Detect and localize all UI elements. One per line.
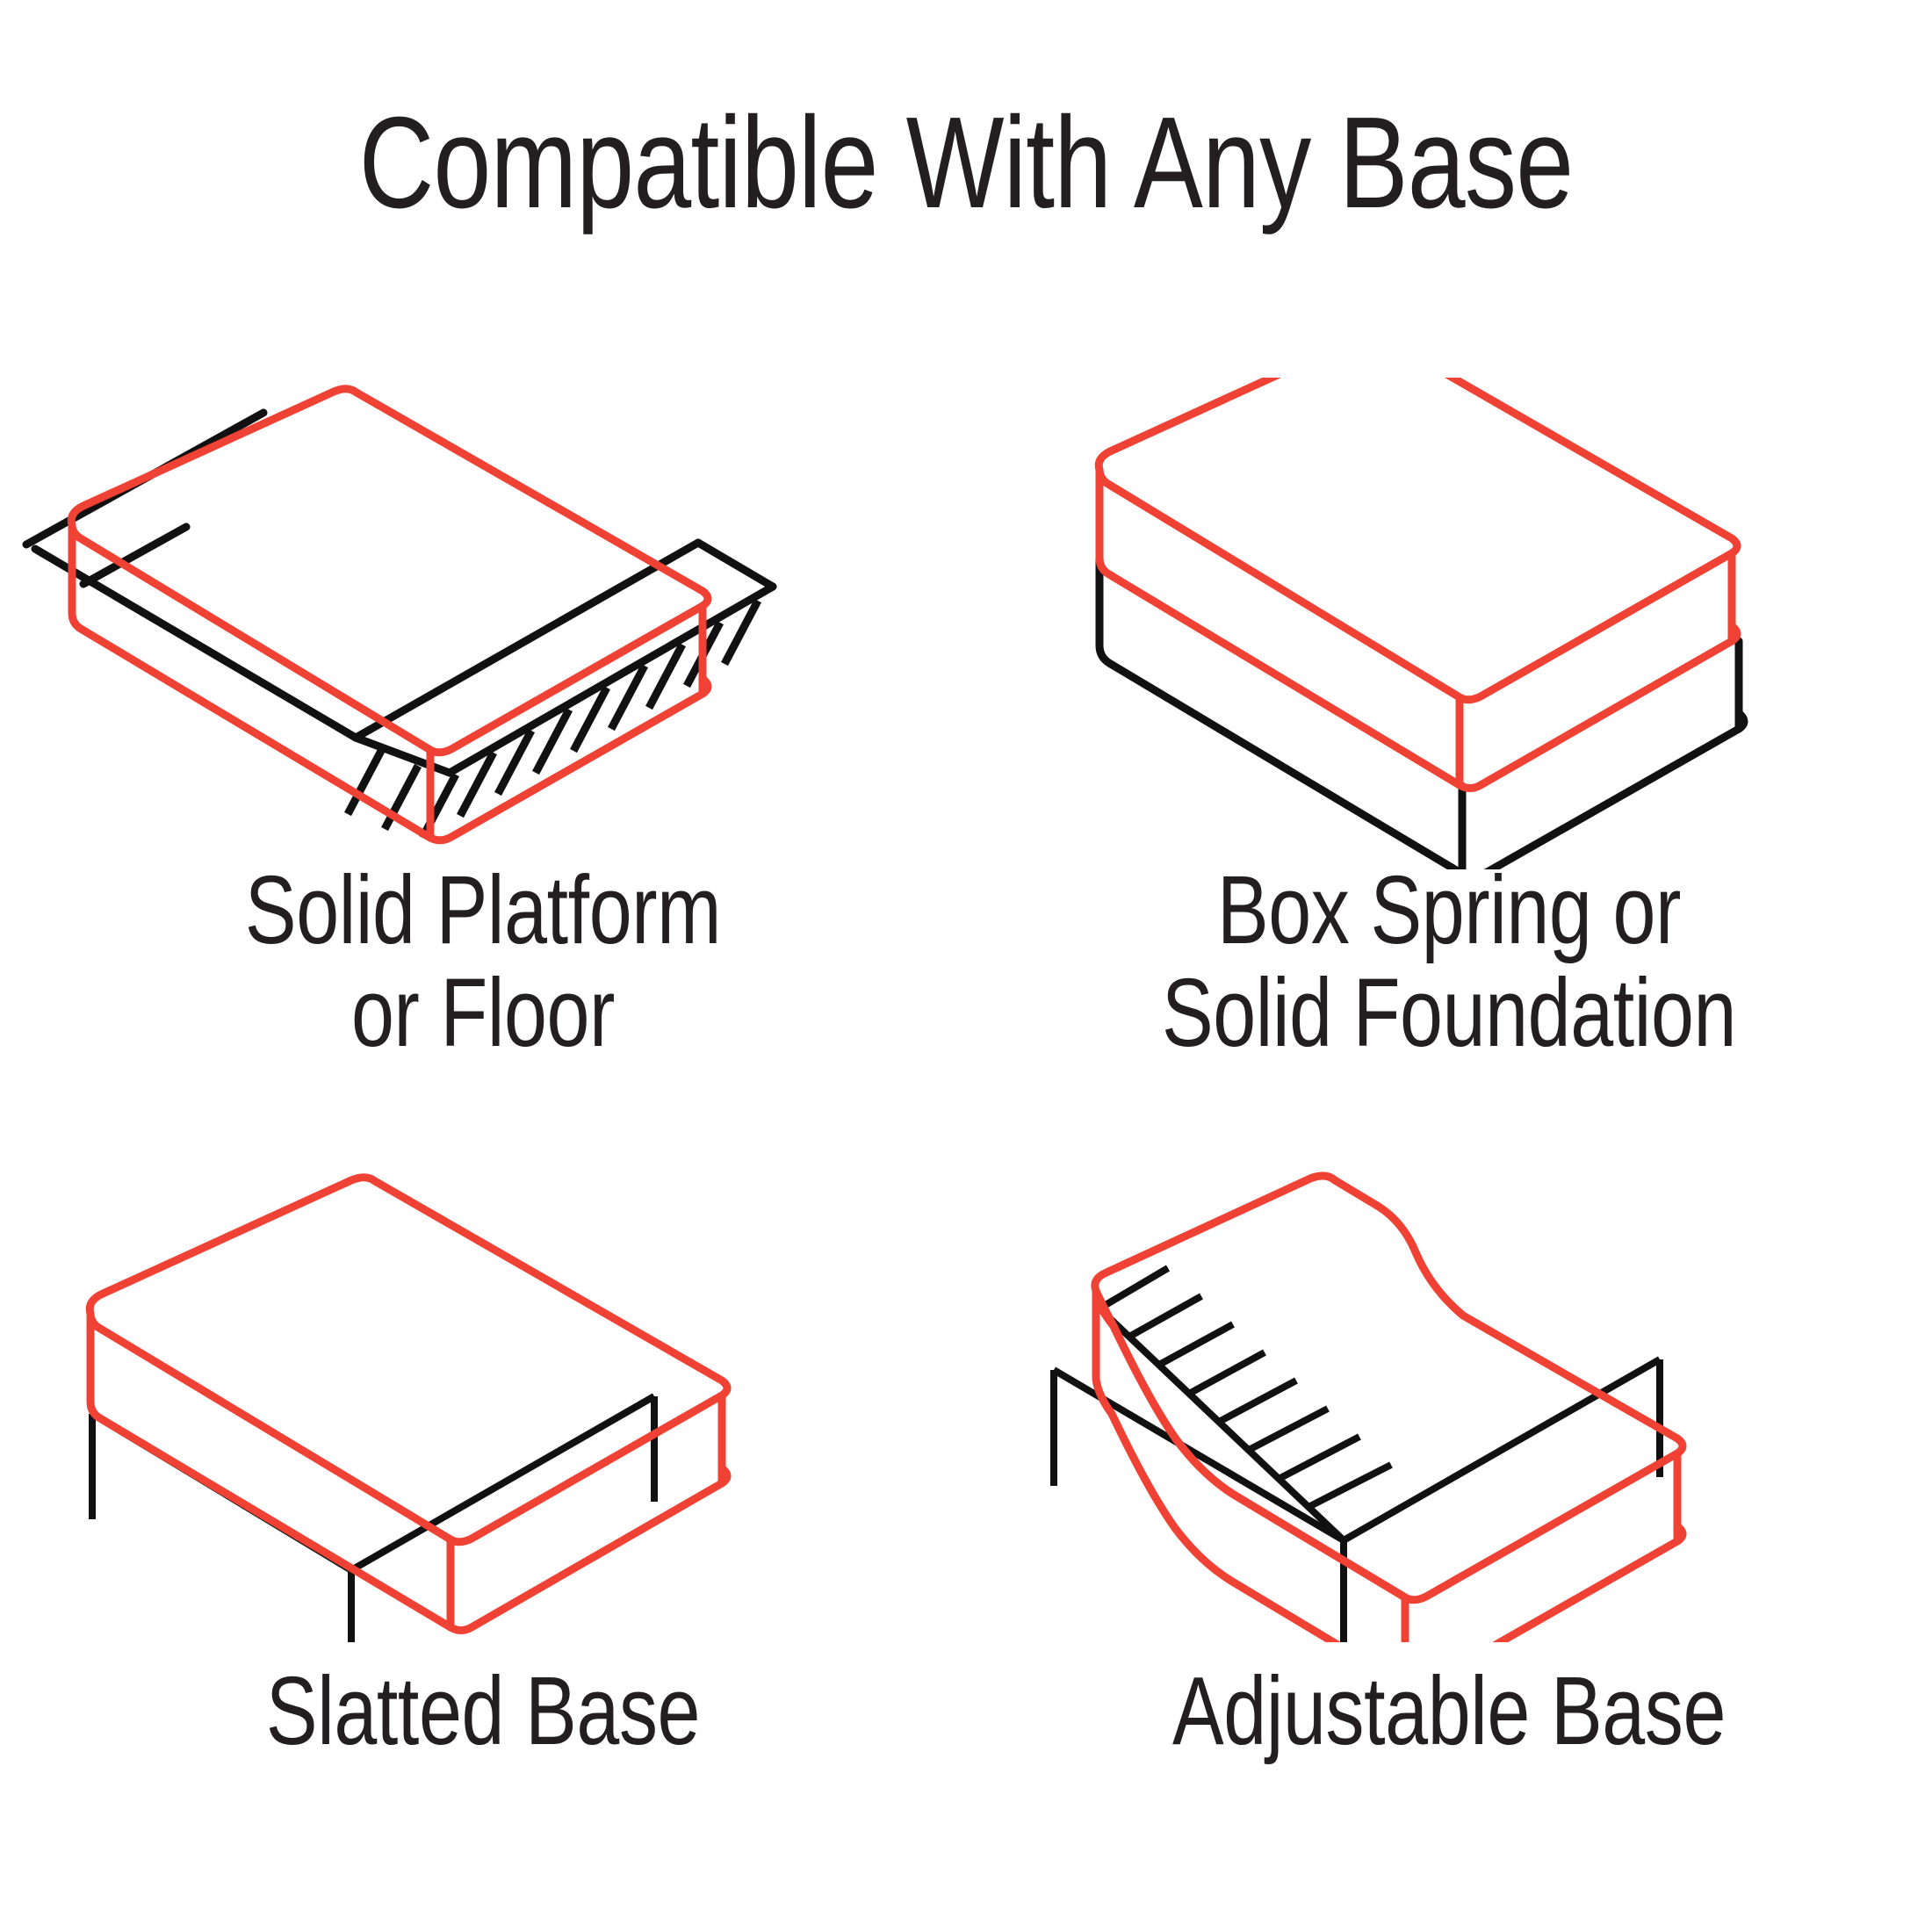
caption-line-2: Solid Foundation [1063, 962, 1835, 1064]
mattress-on-slatted-base-illustration [0, 1150, 966, 1642]
slatted-frame [92, 1396, 654, 1642]
adjustable-frame [1054, 1268, 1660, 1642]
caption-solid-platform: Solid Platform or Floor [0, 859, 966, 1064]
caption-line-1: Adjustable Base [1063, 1660, 1835, 1763]
caption-box-spring: Box Spring or Solid Foundation [966, 859, 1932, 1064]
caption-line-1: Slatted Base [97, 1660, 869, 1763]
mattress-box-spring [1099, 378, 1737, 789]
mattress-on-solid-platform-illustration [0, 378, 966, 869]
caption-line-1: Solid Platform [97, 859, 869, 962]
base-option-solid-platform: Solid Platform or Floor [0, 378, 966, 1124]
mattress-slatted [90, 1178, 727, 1631]
caption-line-1: Box Spring or [1063, 859, 1835, 962]
compatible-bases-infographic: Compatible With Any Base [0, 0, 1932, 1932]
mattress-on-box-spring-illustration [966, 378, 1932, 869]
caption-adjustable-base: Adjustable Base [966, 1660, 1932, 1763]
caption-slatted-base: Slatted Base [0, 1660, 966, 1763]
mattress-on-adjustable-base-illustration [966, 1150, 1932, 1642]
mattress-adjustable [1095, 1176, 1683, 1642]
page-title: Compatible With Any Base [193, 98, 1739, 228]
floor-hatch-ticks [348, 601, 758, 838]
base-types-grid: Solid Platform or Floor [0, 378, 1932, 1871]
base-option-slatted: Slatted Base [0, 1124, 966, 1871]
caption-line-2: or Floor [97, 962, 869, 1064]
base-option-adjustable: Adjustable Base [966, 1124, 1932, 1871]
base-option-box-spring: Box Spring or Solid Foundation [966, 378, 1932, 1124]
mattress-solid-platform [71, 389, 708, 840]
